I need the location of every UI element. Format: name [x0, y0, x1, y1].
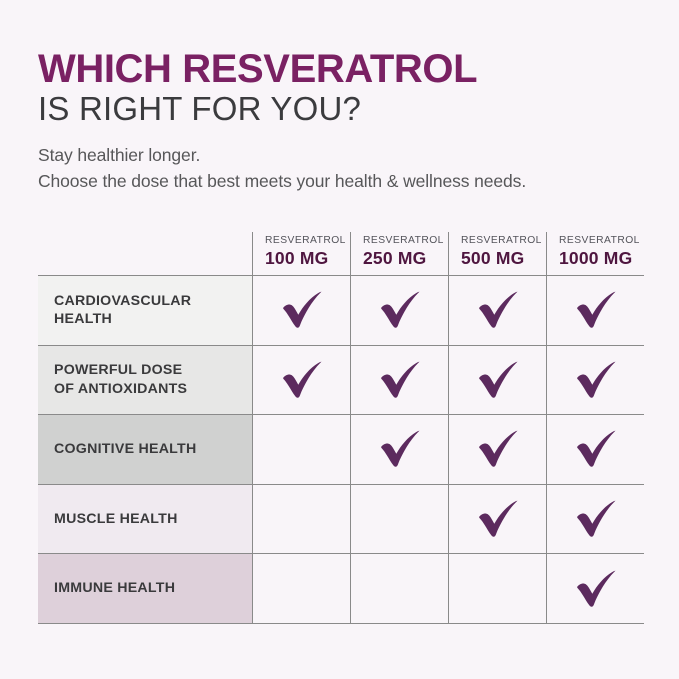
row-label-line1: IMMUNE HEALTH	[54, 579, 175, 598]
table-row: IMMUNE HEALTH	[38, 553, 644, 624]
row-label-line1: COGNITIVE HEALTH	[54, 440, 196, 459]
row-label-line2: HEALTH	[54, 310, 191, 329]
comparison-table: RESVERATROL 100 MG RESVERATROL 250 MG RE…	[38, 232, 644, 618]
check-mark-icon	[377, 290, 423, 330]
page-title-line1: WHICH RESVERATROL	[38, 48, 653, 90]
row-label-cell: COGNITIVE HEALTH	[38, 415, 252, 484]
table-row: CARDIOVASCULAR HEALTH	[38, 275, 644, 345]
column-header-0: RESVERATROL 100 MG	[252, 232, 350, 275]
check-mark-icon	[475, 429, 521, 469]
column-dose-label: 500 MG	[461, 248, 542, 269]
check-mark-icon	[573, 429, 619, 469]
table-row: MUSCLE HEALTH	[38, 484, 644, 554]
row-label: IMMUNE HEALTH	[54, 579, 175, 598]
check-mark-icon	[475, 360, 521, 400]
row-label-cell: CARDIOVASCULAR HEALTH	[38, 276, 252, 345]
cell-4-1	[350, 554, 448, 623]
check-mark-icon	[377, 429, 423, 469]
check-mark-icon	[475, 499, 521, 539]
table-row: COGNITIVE HEALTH	[38, 414, 644, 484]
cell-1-1	[350, 346, 448, 415]
row-label: COGNITIVE HEALTH	[54, 440, 196, 459]
cell-0-3	[546, 276, 644, 345]
cell-0-0	[252, 276, 350, 345]
lede-block: Stay healthier longer. Choose the dose t…	[38, 143, 653, 194]
check-mark-icon	[279, 360, 325, 400]
check-mark-icon	[573, 569, 619, 609]
infographic-page: WHICH RESVERATROL IS RIGHT FOR YOU? Stay…	[0, 0, 679, 679]
cell-2-0	[252, 415, 350, 484]
row-label-cell: IMMUNE HEALTH	[38, 554, 252, 623]
row-label-line1: POWERFUL DOSE	[54, 361, 187, 380]
header-corner-cell	[38, 232, 252, 275]
column-header-3: RESVERATROL 1000 MG	[546, 232, 644, 275]
column-brand-label: RESVERATROL	[559, 235, 640, 248]
row-label-cell: POWERFUL DOSE OF ANTIOXIDANTS	[38, 346, 252, 415]
cell-0-1	[350, 276, 448, 345]
lede-line-1: Stay healthier longer.	[38, 143, 653, 169]
cell-2-1	[350, 415, 448, 484]
heading-block: WHICH RESVERATROL IS RIGHT FOR YOU? Stay…	[38, 48, 653, 194]
cell-2-2	[448, 415, 546, 484]
check-mark-icon	[573, 360, 619, 400]
cell-2-3	[546, 415, 644, 484]
column-dose-label: 1000 MG	[559, 248, 640, 269]
column-brand-label: RESVERATROL	[461, 235, 542, 248]
row-label: CARDIOVASCULAR HEALTH	[54, 292, 191, 329]
page-title-line2: IS RIGHT FOR YOU?	[38, 90, 653, 129]
cell-4-3	[546, 554, 644, 623]
cell-4-0	[252, 554, 350, 623]
cell-0-2	[448, 276, 546, 345]
check-mark-icon	[279, 290, 325, 330]
row-label: POWERFUL DOSE OF ANTIOXIDANTS	[54, 361, 187, 398]
row-label-line2: OF ANTIOXIDANTS	[54, 380, 187, 399]
column-brand-label: RESVERATROL	[363, 235, 444, 248]
cell-1-3	[546, 346, 644, 415]
column-dose-label: 100 MG	[265, 248, 346, 269]
check-mark-icon	[377, 360, 423, 400]
cell-3-3	[546, 485, 644, 554]
table-header-row: RESVERATROL 100 MG RESVERATROL 250 MG RE…	[38, 232, 644, 275]
row-label: MUSCLE HEALTH	[54, 510, 178, 529]
row-label-cell: MUSCLE HEALTH	[38, 485, 252, 554]
column-header-1: RESVERATROL 250 MG	[350, 232, 448, 275]
check-mark-icon	[573, 499, 619, 539]
row-label-line1: CARDIOVASCULAR	[54, 292, 191, 311]
check-mark-icon	[573, 290, 619, 330]
cell-3-2	[448, 485, 546, 554]
table-row: POWERFUL DOSE OF ANTIOXIDANTS	[38, 345, 644, 415]
cell-1-0	[252, 346, 350, 415]
column-dose-label: 250 MG	[363, 248, 444, 269]
cell-4-2	[448, 554, 546, 623]
cell-3-1	[350, 485, 448, 554]
column-header-2: RESVERATROL 500 MG	[448, 232, 546, 275]
check-mark-icon	[475, 290, 521, 330]
lede-line-2: Choose the dose that best meets your hea…	[38, 169, 653, 195]
column-brand-label: RESVERATROL	[265, 235, 346, 248]
row-label-line1: MUSCLE HEALTH	[54, 510, 178, 529]
cell-1-2	[448, 346, 546, 415]
cell-3-0	[252, 485, 350, 554]
